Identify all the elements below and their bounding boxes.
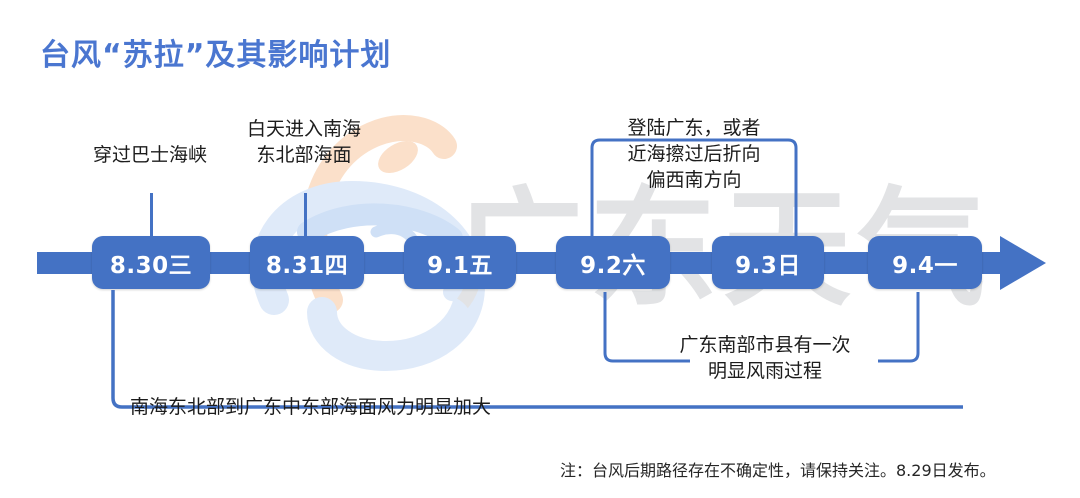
annotation-rain-process-line-1: 明显风雨过程: [660, 358, 870, 384]
connector-line-bashi-strait: [150, 193, 153, 238]
annotation-south-china-sea: 白天进入南海 东北部海面: [229, 116, 379, 168]
timeline-box-2[interactable]: 9.1五: [404, 236, 516, 289]
timeline-box-0[interactable]: 8.30三: [92, 236, 210, 289]
annotation-bashi-strait-line-0: 穿过巴士海峡: [75, 142, 225, 168]
timeline-box-1[interactable]: 8.31四: [250, 236, 364, 289]
annotation-south-china-sea-line-0: 白天进入南海: [229, 116, 379, 142]
timeline-box-4[interactable]: 9.3日: [712, 236, 824, 289]
annotation-landfall-guangdong: 登陆广东，或者 近海擦过后折向 偏西南方向: [604, 115, 784, 193]
annotation-landfall-guangdong-line-2: 偏西南方向: [604, 167, 784, 193]
connector-line-south-china-sea: [304, 193, 307, 238]
page-title: 台风“苏拉”及其影响计划: [40, 30, 391, 74]
infographic-canvas: 广东天气 台风“苏拉”及其影响计划 8.30三 8.31四 9.1五 9.2六 …: [0, 0, 1080, 493]
annotation-bashi-strait: 穿过巴士海峡: [75, 142, 225, 168]
annotation-rain-process-line-0: 广东南部市县有一次: [660, 332, 870, 358]
annotation-wind-increase: 南海东北部到广东中东部海面风力明显加大: [130, 394, 560, 420]
timeline-box-3[interactable]: 9.2六: [556, 236, 670, 289]
annotation-south-china-sea-line-1: 东北部海面: [229, 142, 379, 168]
annotation-landfall-guangdong-line-1: 近海擦过后折向: [604, 141, 784, 167]
annotation-landfall-guangdong-line-0: 登陆广东，或者: [604, 115, 784, 141]
footnote-text: 注：台风后期路径存在不确定性，请保持关注。8.29日发布。: [560, 457, 996, 481]
timeline-box-5[interactable]: 9.4一: [868, 236, 982, 289]
timeline-arrow-head-icon: [1000, 236, 1046, 290]
annotation-wind-increase-line-0: 南海东北部到广东中东部海面风力明显加大: [130, 394, 560, 420]
annotation-rain-process: 广东南部市县有一次 明显风雨过程: [660, 332, 870, 384]
